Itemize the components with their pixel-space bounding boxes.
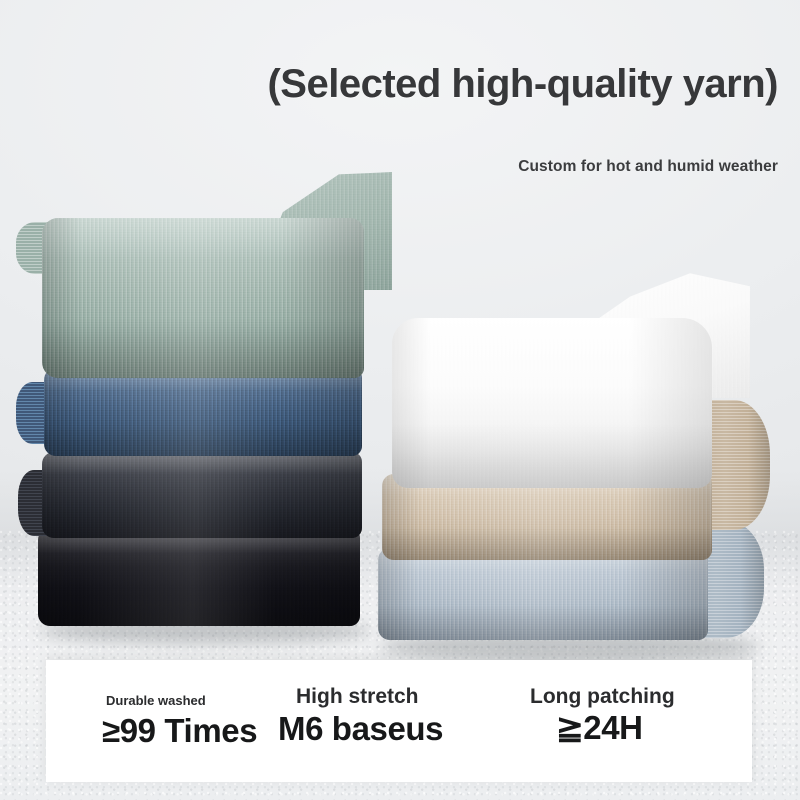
stat-label: Durable washed (106, 693, 206, 708)
stat-label: High stretch (296, 685, 419, 709)
charcoal-sock (42, 452, 362, 538)
stat-label: Long patching (530, 685, 675, 709)
light-blue-sock (378, 548, 708, 640)
white-sock (392, 318, 712, 488)
stat-durable-washed: Durable washed ≥99 Times (46, 660, 296, 782)
stat-value: M6 baseus (278, 710, 443, 748)
stat-value: ≥99 Times (102, 712, 257, 750)
stat-value: ≧24H (556, 708, 643, 747)
stat-high-stretch: High stretch M6 baseus (296, 660, 526, 782)
black-sock (38, 528, 360, 626)
subheadline: Custom for hot and humid weather (518, 158, 778, 176)
denim-blue-sock (44, 368, 362, 456)
headline: (Selected high-quality yarn) (0, 62, 778, 107)
feature-panel: Durable washed ≥99 Times High stretch M6… (46, 660, 752, 782)
product-image: (Selected high-quality yarn) Custom for … (0, 0, 800, 800)
sage-green-sock (42, 218, 364, 378)
stat-long-patching: Long patching ≧24H (526, 660, 752, 782)
